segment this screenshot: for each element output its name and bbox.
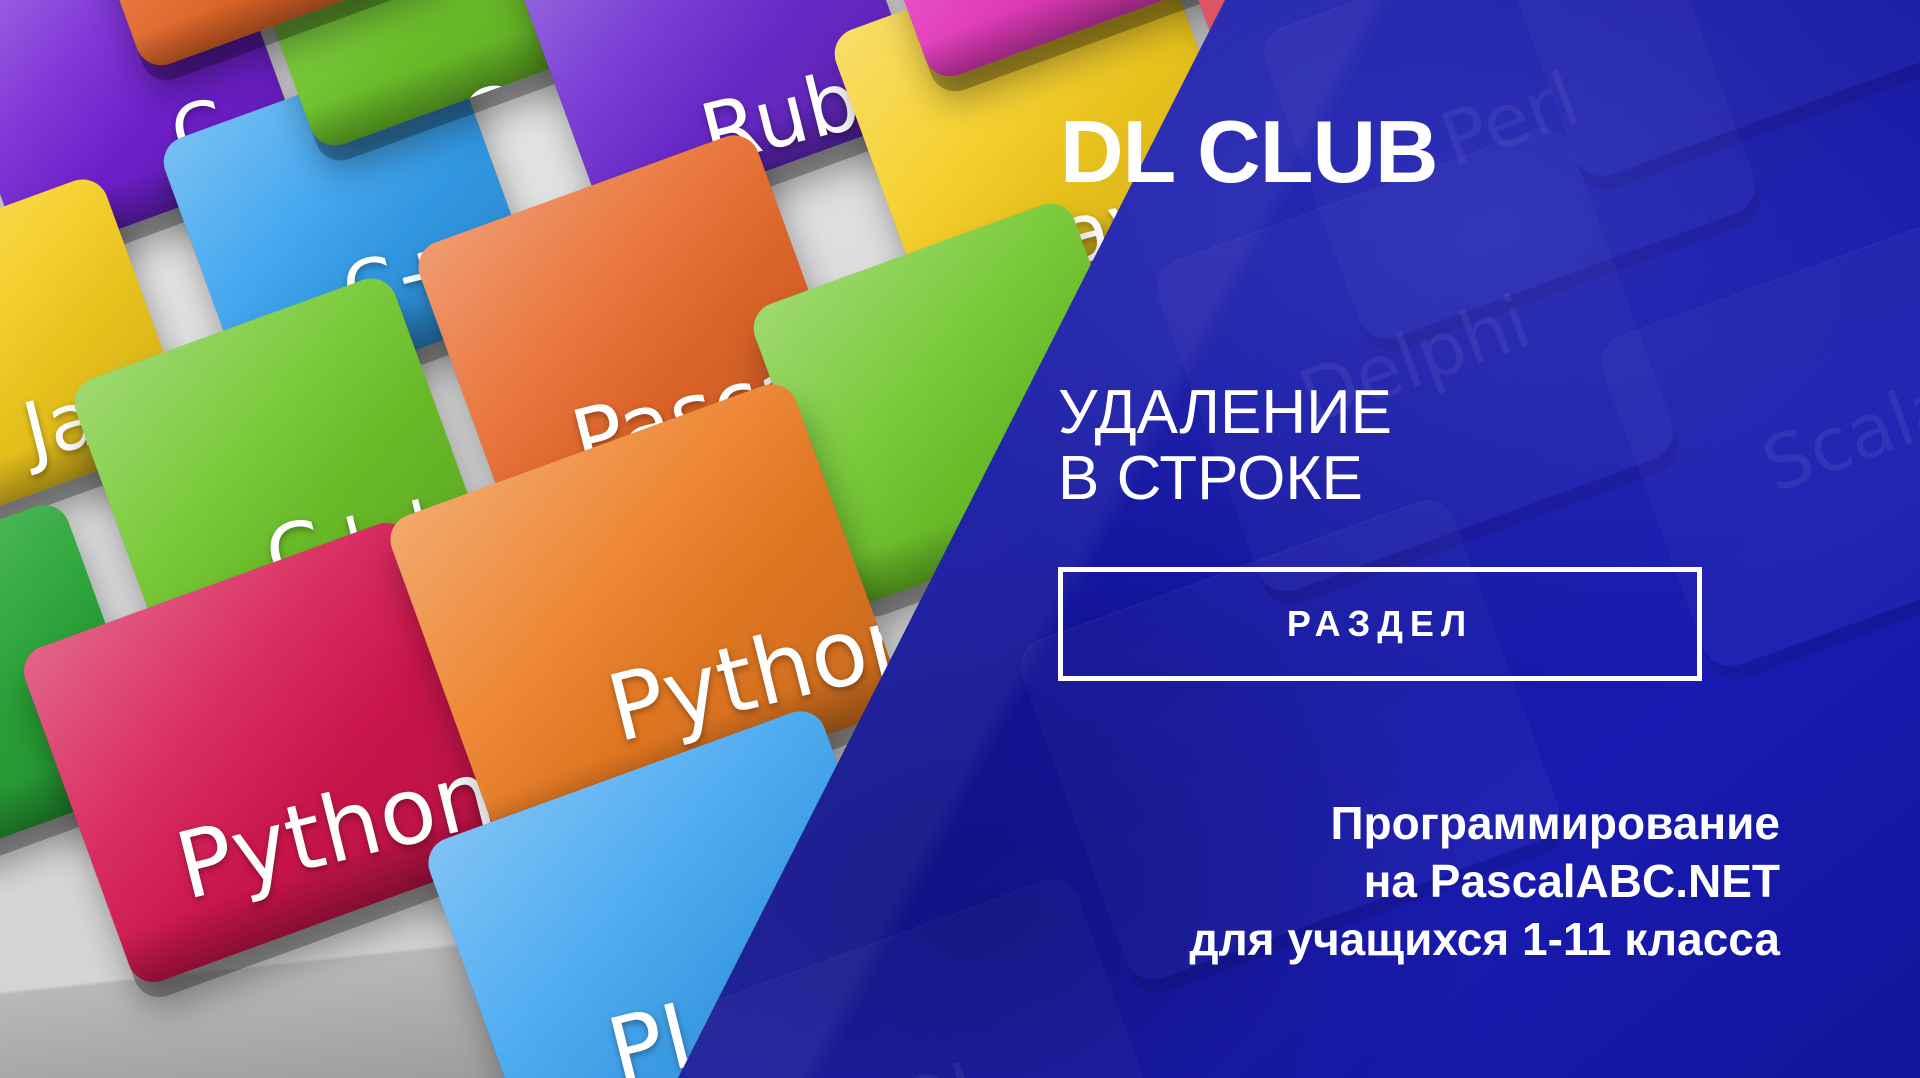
course-description-line-2: на PascalABC.NET bbox=[960, 853, 1780, 911]
section-heading-line-1: УДАЛЕНИЕ bbox=[1058, 380, 1758, 446]
section-heading: УДАЛЕНИЕ В СТРОКЕ bbox=[1058, 380, 1758, 513]
section-badge-label: РАЗДЕЛ bbox=[1287, 603, 1473, 645]
course-description: Программирование на PascalABC.NET для уч… bbox=[960, 795, 1780, 969]
course-description-line-1: Программирование bbox=[960, 795, 1780, 853]
slide-canvas: CC++C++RubyJavaJavaPascalC++ProtPythonPy… bbox=[0, 0, 1920, 1078]
brand-title: DL CLUB bbox=[1060, 108, 1920, 196]
section-heading-line-2: В СТРОКЕ bbox=[1058, 446, 1758, 512]
course-description-line-3: для учащихся 1-11 класса bbox=[960, 911, 1780, 969]
section-badge-box[interactable]: РАЗДЕЛ bbox=[1058, 567, 1702, 681]
